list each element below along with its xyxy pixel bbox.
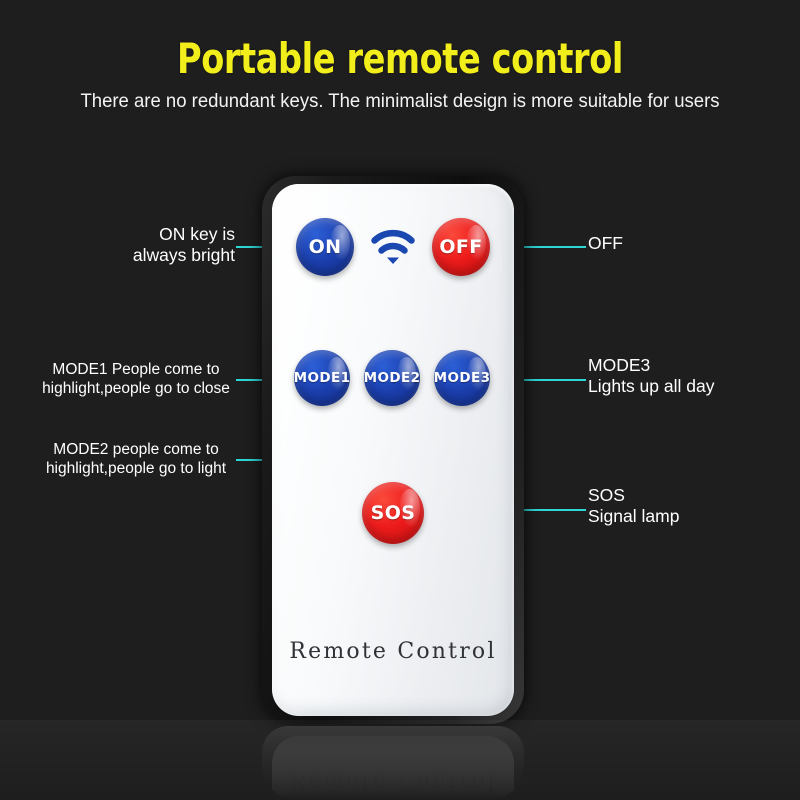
reflection-face: Remote Control (272, 736, 514, 800)
callout-off: OFF (588, 233, 788, 254)
brand-label: Remote Control (272, 639, 514, 664)
button-off[interactable]: OFF (432, 218, 490, 276)
button-mode2[interactable]: MODE2 (364, 350, 420, 406)
page-title: Portable remote control (80, 34, 720, 83)
device-reflection: Remote Control (262, 726, 524, 800)
reflection-brand-label: Remote Control (272, 769, 514, 794)
wifi-icon (371, 228, 415, 266)
product-infographic: Portable remote control There are no red… (0, 0, 800, 800)
button-sos[interactable]: SOS (362, 482, 424, 544)
page-subtitle: There are no redundant keys. The minimal… (20, 90, 780, 113)
callout-mode3: MODE3 Lights up all day (588, 355, 793, 398)
callout-mode2: MODE2 people come to highlight,people go… (5, 441, 267, 479)
button-mode3[interactable]: MODE3 (434, 350, 490, 406)
button-on[interactable]: ON (296, 218, 354, 276)
callout-mode1: MODE1 People come to highlight,people go… (5, 361, 267, 399)
callout-sos: SOS Signal lamp (588, 485, 793, 528)
button-mode1[interactable]: MODE1 (294, 350, 350, 406)
callout-on: ON key is always bright (60, 224, 235, 267)
